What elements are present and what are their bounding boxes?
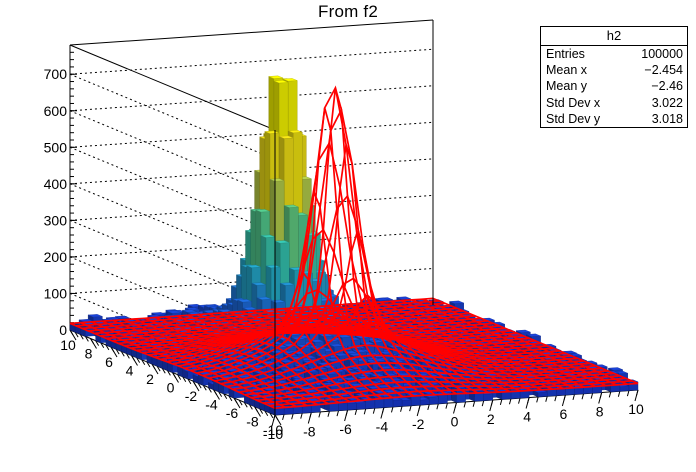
y-axis-tick-label: 6 — [105, 354, 113, 370]
x-axis-minor-tick — [564, 395, 566, 401]
x-axis-tick-label: 0 — [451, 414, 459, 430]
lego-bar-side — [348, 403, 357, 410]
z-axis-tick-label: 200 — [44, 249, 68, 265]
x-axis-minor-tick — [600, 393, 602, 399]
x-axis-minor-tick — [401, 406, 403, 412]
stats-box: h2 Entries100000Mean x−2.454Mean y−2.46S… — [540, 26, 688, 128]
x-axis-minor-tick — [355, 409, 357, 415]
x-axis-tick-label: 4 — [523, 409, 531, 425]
frame-edge-top-back — [70, 20, 433, 45]
z-axis-tick-label: 700 — [44, 66, 68, 82]
stats-row: Entries100000 — [541, 46, 687, 62]
x-axis-minor-tick — [627, 391, 629, 397]
stats-row-key: Mean y — [546, 78, 587, 94]
stats-rows: Entries100000Mean x−2.454Mean y−2.46Std … — [541, 46, 687, 127]
x-axis-tick-label: -10 — [263, 426, 283, 442]
x-axis-minor-tick — [491, 400, 493, 406]
grid-line-z — [70, 159, 433, 184]
x-axis-minor-tick — [364, 409, 366, 415]
y-axis-tick-label: 4 — [126, 363, 134, 379]
lego-bar-side — [178, 361, 183, 376]
stats-row: Std Dev y3.018 — [541, 111, 687, 127]
x-axis-minor-tick — [555, 396, 557, 402]
x-axis-minor-tick — [473, 401, 475, 407]
x-axis-minor-tick — [301, 413, 303, 419]
y-axis-tick-label: -4 — [205, 397, 218, 413]
x-axis-tick-label: -2 — [412, 416, 425, 432]
x-axis-minor-tick — [428, 404, 430, 410]
z-axis: 0100200300400500600700 — [44, 52, 77, 338]
x-axis-minor-tick — [455, 403, 457, 409]
y-axis-tick-label: -8 — [246, 414, 259, 430]
stats-row-value: 3.022 — [652, 95, 683, 111]
z-axis-tick-label: 600 — [44, 103, 68, 119]
x-axis-minor-tick — [274, 415, 276, 421]
x-axis-minor-tick — [310, 413, 312, 419]
y-axis-tick-label: -6 — [226, 405, 239, 421]
x-axis-minor-tick — [346, 410, 348, 416]
x-axis-minor-tick — [337, 411, 339, 417]
y-axis-tick-label: 8 — [85, 346, 93, 362]
z-axis-tick-label: 300 — [44, 212, 68, 228]
x-axis-minor-tick — [446, 403, 448, 409]
lego-bar-side — [366, 400, 375, 409]
stats-row-key: Entries — [546, 46, 585, 62]
stats-row-key: Mean x — [546, 62, 587, 78]
stats-row-value: 3.018 — [652, 111, 683, 127]
lego-bar-side — [429, 397, 438, 405]
z-axis-tick-label: 500 — [44, 139, 68, 155]
x-axis-minor-tick — [437, 404, 439, 410]
x-axis-minor-tick — [482, 401, 484, 407]
lego-bar-side — [420, 399, 429, 405]
y-axis-tick-label: -2 — [185, 388, 198, 404]
lego-bar-side — [402, 400, 411, 406]
lego-bar-side — [284, 408, 293, 415]
y-axis-minor-tick — [275, 415, 278, 420]
x-axis-minor-tick — [618, 391, 620, 397]
x-axis-minor-tick — [382, 408, 384, 414]
x-axis-minor-tick — [419, 405, 421, 411]
x-axis-tick-label: -4 — [376, 419, 389, 435]
x-axis-minor-tick — [537, 397, 539, 403]
z-axis-tick-label: 400 — [44, 176, 68, 192]
lego-bar-side — [357, 402, 366, 409]
grid-line-z — [70, 147, 275, 232]
x-axis-minor-tick — [591, 393, 593, 399]
x-axis-minor-tick — [637, 390, 639, 396]
grid-line-z — [70, 122, 433, 147]
stats-row-key: Std Dev y — [546, 111, 600, 127]
x-axis-tick-label: -6 — [339, 421, 352, 437]
stats-title: h2 — [541, 27, 687, 46]
x-axis-minor-tick — [283, 414, 285, 420]
stats-row-value: −2.454 — [644, 62, 683, 78]
lego-bar-side — [302, 406, 311, 413]
stats-row-value: −2.46 — [651, 78, 683, 94]
grid-line-z — [70, 49, 433, 74]
x-axis-minor-tick — [319, 412, 321, 418]
grid-line-z — [70, 184, 275, 269]
lego-bar-side — [620, 386, 629, 391]
x-axis-minor-tick — [609, 392, 611, 398]
x-axis-minor-tick — [528, 398, 530, 404]
y-axis-tick-label: 0 — [167, 380, 175, 396]
x-axis-tick-label: -8 — [303, 424, 316, 440]
stats-row-key: Std Dev x — [546, 95, 600, 111]
stats-row: Mean y−2.46 — [541, 78, 687, 94]
stats-row-value: 100000 — [641, 46, 683, 62]
x-axis-minor-tick — [582, 394, 584, 400]
x-axis-tick-label: 6 — [560, 406, 568, 422]
lego-bar-side — [339, 403, 348, 411]
lego-bar-side — [438, 395, 447, 404]
stats-row: Std Dev x3.022 — [541, 95, 687, 111]
stats-row: Mean x−2.454 — [541, 62, 687, 78]
lego-bar-side — [393, 400, 402, 407]
grid-line-z — [70, 111, 275, 196]
x-axis-minor-tick — [391, 407, 393, 413]
x-axis-tick-label: 8 — [596, 404, 604, 420]
x-axis-minor-tick — [509, 399, 511, 405]
x-axis-minor-tick — [410, 406, 412, 412]
grid-line-z — [70, 86, 433, 111]
lego-bar-side — [484, 394, 493, 401]
x-axis-minor-tick — [500, 399, 502, 405]
x-axis-tick-label: 2 — [487, 411, 495, 427]
x-axis-minor-tick — [573, 394, 575, 400]
x-axis-tick-label: 10 — [628, 401, 644, 417]
y-axis-tick-label: 2 — [146, 371, 154, 387]
x-axis-minor-tick — [292, 414, 294, 420]
y-axis-tick-label: 10 — [60, 337, 76, 353]
z-axis-tick-label: 0 — [59, 322, 67, 338]
x-axis-minor-tick — [519, 398, 521, 404]
z-axis-tick-label: 100 — [44, 285, 68, 301]
root-plot-canvas: From f2 01002003004005006007001086420-2-… — [0, 0, 696, 472]
x-axis-minor-tick — [546, 396, 548, 402]
x-axis-minor-tick — [373, 408, 375, 414]
x-axis-minor-tick — [464, 402, 466, 408]
x-axis-minor-tick — [328, 411, 330, 417]
